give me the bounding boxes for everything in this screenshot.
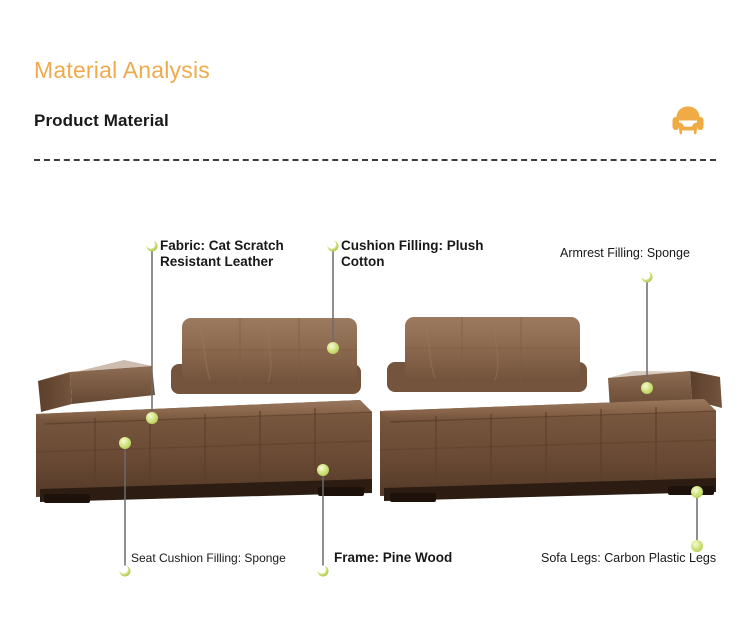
back-cushion-right bbox=[387, 317, 587, 392]
seat-base-right bbox=[380, 399, 716, 496]
page-header: Material Analysis Product Material bbox=[0, 0, 750, 169]
sofa-legs-right bbox=[384, 478, 716, 502]
annotation-label-cushion-filling: Cushion Filling: Plush Cotton bbox=[341, 238, 506, 270]
sofa-legs-left bbox=[40, 479, 372, 503]
marker-dot-frame-label bbox=[318, 566, 329, 577]
marker-dot-legs-target bbox=[691, 486, 703, 498]
annotation-label-seat-cushion-filling: Seat Cushion Filling: Sponge bbox=[131, 551, 306, 565]
title-row: Product Material bbox=[34, 101, 716, 141]
seat-base-left bbox=[36, 400, 372, 497]
header-divider bbox=[34, 159, 716, 161]
marker-dot-frame-target bbox=[317, 464, 329, 476]
marker-dot-seat-label bbox=[120, 566, 131, 577]
annotation-label-frame: Frame: Pine Wood bbox=[334, 550, 484, 566]
page-eyebrow: Material Analysis bbox=[34, 58, 716, 83]
marker-dots bbox=[119, 241, 703, 577]
marker-dot-cushion-target bbox=[327, 342, 339, 354]
leader-lines bbox=[125, 246, 697, 571]
page-title: Product Material bbox=[34, 111, 169, 131]
annotation-label-fabric: Fabric: Cat Scratch Resistant Leather bbox=[160, 238, 310, 270]
marker-dot-cushion-label bbox=[328, 241, 339, 252]
annotation-label-sofa-legs: Sofa Legs: Carbon Plastic Legs bbox=[541, 551, 741, 566]
marker-dot-fabric-label bbox=[147, 241, 158, 252]
armrest-left bbox=[38, 360, 155, 412]
back-cushion-left bbox=[171, 318, 361, 394]
annotation-label-armrest-filling: Armrest Filling: Sponge bbox=[560, 246, 730, 261]
marker-dot-fabric-target bbox=[146, 412, 158, 424]
marker-dot-armrest-target bbox=[641, 382, 653, 394]
marker-dot-seat-target bbox=[119, 437, 131, 449]
marker-dot-armrest-label bbox=[642, 272, 653, 283]
material-analysis-page: Material Analysis Product Material bbox=[0, 0, 750, 639]
sofa-right-module bbox=[380, 317, 722, 502]
armrest-right bbox=[608, 371, 722, 409]
sofa-left-module bbox=[36, 318, 372, 503]
armchair-icon bbox=[668, 101, 708, 141]
